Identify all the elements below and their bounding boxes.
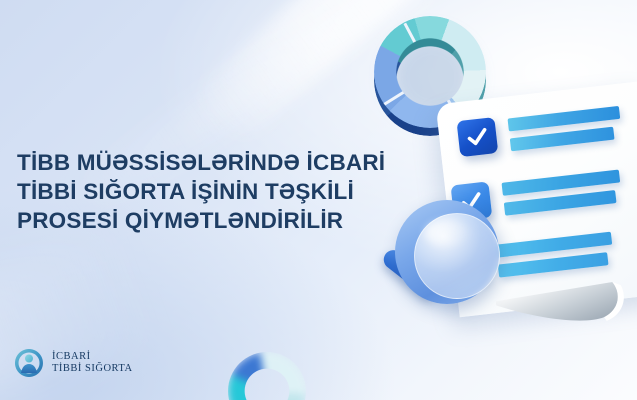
checkbox-checked-icon[interactable] [456,117,498,157]
headline-line-1: TİBB MÜƏSSİSƏLƏRİNDƏ İCBARİ [17,148,417,177]
magnifier-gloss [425,220,469,246]
logo-text: İCBARİ TİBBİ SIĞORTA [52,351,133,375]
logo-line-1: İCBARİ [52,351,133,363]
logo[interactable]: İCBARİ TİBBİ SIĞORTA [14,348,133,378]
donut-segment-gap [403,23,433,76]
insurance-news-banner: TİBB MÜƏSSİSƏLƏRİNDƏ İCBARİ TİBBİ SIĞORT… [0,0,637,400]
headline-line-2: TİBBİ SIĞORTA İŞİNİN TƏŞKİLİ [17,177,417,206]
headline: TİBB MÜƏSSİSƏLƏRİNDƏ İCBARİ TİBBİ SIĞORT… [17,148,417,235]
logo-line-2: TİBBİ SIĞORTA [52,363,133,375]
donut-segment-gap [382,73,433,106]
donut-chart-blurred-icon [228,352,306,400]
person-in-circle-icon [14,348,44,378]
headline-line-3: PROSESİ QİYMƏTLƏNDİRİLİR [17,206,417,235]
